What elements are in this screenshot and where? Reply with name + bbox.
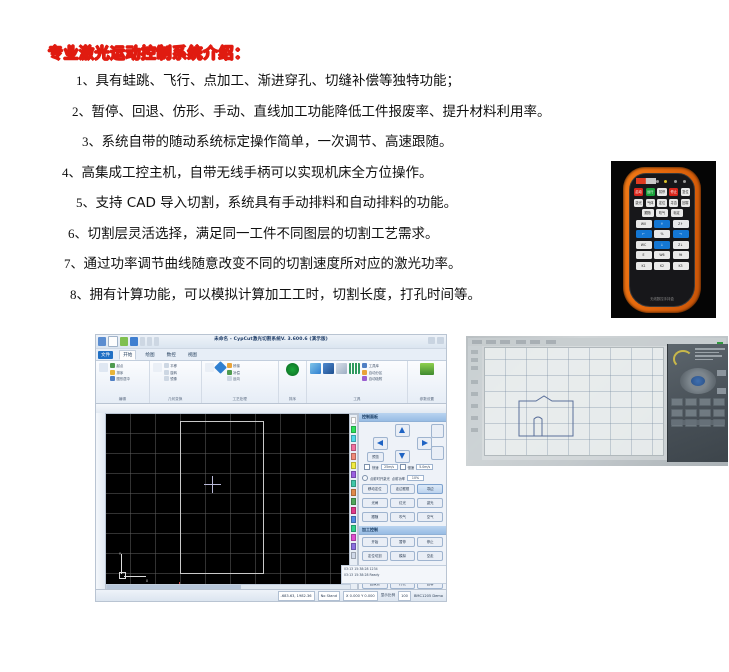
pendant-brand-logo [636, 178, 656, 184]
panel-key[interactable] [685, 409, 697, 417]
pendant-key-laser[interactable]: 激光 [634, 199, 643, 207]
list-item-number: 7、 [64, 256, 84, 271]
list-item-text: 系统自带的随动系统标定操作简单，一次调节、高速跟随。 [102, 134, 453, 150]
pendant-key-e[interactable]: E [636, 251, 652, 259]
panel-key[interactable] [671, 409, 683, 417]
ribbon-group-title: 工具 [310, 397, 403, 403]
pendant-key-wc[interactable]: WC [636, 241, 652, 249]
ribbon-item-label: 自动吸附 [369, 376, 383, 381]
red-light-toggle[interactable]: 红光 [390, 498, 416, 508]
panel-key[interactable] [685, 398, 697, 406]
panel-key[interactable] [699, 409, 711, 417]
laser-toggle[interactable]: 激光 [417, 498, 443, 508]
dock-icon[interactable] [323, 363, 334, 374]
toggle-button-row: 跟随 吹气 空气 [359, 510, 446, 524]
list-item: 8、拥有计算功能，可以模拟计算加工工时，切割长度，打孔时间等。 [70, 280, 662, 311]
list-item: 3、系统自带的随动系统标定操作简单，一次调节、高速跟随。 [82, 127, 662, 158]
list-item-text: 支持 CAD 导入切割，系统具有手动排料和自动排料的功能。 [96, 195, 458, 211]
pendant-key-edge[interactable]: 寻边 [669, 199, 678, 207]
fixture-icon[interactable] [336, 363, 347, 374]
pendant-key-9t[interactable]: 9t [673, 251, 689, 259]
tab-view[interactable]: 视图 [185, 351, 200, 359]
z-down-button[interactable] [431, 446, 444, 460]
color-swatch[interactable] [351, 534, 356, 541]
process-pause-button[interactable]: 暂停 [390, 537, 416, 547]
handheld-pendant-photo: 启动 运行 暂停 停止 复位 激光 气体 定位 寻边 回零 跟随 吹气 标定 [611, 161, 716, 318]
slow-speed-checkbox[interactable] [400, 464, 406, 470]
list-item: 7、通过功率调节曲线随意改变不同的切割速度所对应的激光功率。 [64, 249, 662, 280]
list-item-text: 高集成工控主机，自带无线手柄可以实现机床全方位操作。 [82, 165, 433, 181]
edge-find-button[interactable]: 寻边 [417, 484, 443, 494]
color-swatch[interactable] [351, 489, 356, 496]
fast-speed-field[interactable]: 25m/s [381, 464, 398, 470]
pendant-keypad: 启动 运行 暂停 停止 复位 激光 气体 定位 寻边 回零 跟随 吹气 标定 [634, 188, 690, 272]
panel-side-button[interactable] [717, 388, 726, 394]
axis-label-y: Y [119, 552, 121, 556]
color-swatch[interactable] [351, 516, 356, 523]
minimize-icon [428, 337, 435, 344]
color-swatch[interactable] [351, 444, 356, 451]
process-start-button[interactable]: 开始 [362, 537, 388, 547]
jog-control: 预览 快速 25m/s 慢速 5.0m/s [359, 422, 446, 474]
pendant-key-start[interactable]: 启动 [634, 188, 643, 196]
status-bar: -683.63, 1982.36 No Stand X 0.000 Y 0.00… [96, 589, 446, 601]
ribbon-group-sort: 排序 [279, 361, 308, 403]
layer-icon[interactable] [420, 363, 434, 375]
color-swatch[interactable] [351, 498, 356, 505]
part-profile-icon [518, 395, 591, 437]
jog-down-button[interactable] [395, 450, 410, 463]
point-laser-label: 点射时开激光 [370, 476, 390, 481]
process-stop-button[interactable]: 停止 [417, 537, 443, 547]
pendant-key-row: K1 K2 K3 [634, 262, 690, 270]
ribbon-item-label: 排序 [117, 370, 124, 375]
simulate-button[interactable]: 模拟 [390, 551, 416, 561]
ribbon-group-title: 几何变换 [153, 397, 198, 403]
ribbon-group-tools: 工具库 自动分区 自动吸附 工具 [307, 361, 407, 403]
air-select[interactable]: 空气 [417, 512, 443, 522]
workpiece-outline[interactable] [180, 421, 264, 574]
jog-up-button[interactable] [395, 424, 410, 437]
pendant-key-k3[interactable]: K3 [673, 262, 689, 270]
tab-cnc[interactable]: 数控 [164, 351, 179, 359]
shutter-toggle[interactable]: 光闸 [362, 498, 388, 508]
ribbon-item-label: 平移 [170, 363, 177, 368]
gauge-icon [673, 350, 693, 368]
axis-label-x: X [146, 579, 148, 583]
select-tool-icon[interactable] [99, 363, 108, 372]
pendant-key-row: 启动 运行 暂停 停止 复位 [634, 188, 690, 196]
jog-preview-button[interactable]: 预览 [367, 452, 384, 462]
ribbon-group-title: 工艺处理 [205, 397, 275, 403]
list-item: 1、具有蛙跳、飞行、点加工、渐进穿孔、切缝补偿等独特功能； [76, 66, 662, 97]
pendant-key-w0[interactable]: W0 [636, 220, 652, 228]
control-panel-title: 控制面板 [359, 413, 446, 422]
cypcut-software-screenshot: 未命名 - CypCut激光切割系统V. 3.600.6 (演示版) 文件 开始… [95, 334, 447, 602]
ribbon-group-process: 桥接 补偿 反向 工艺处理 [202, 361, 279, 403]
ribbon-item-label: 桥接 [233, 363, 240, 368]
ribbon-tab-bar: 文件 开始 绘图 数控 视图 [96, 349, 446, 361]
fast-speed-checkbox[interactable] [364, 464, 370, 470]
slow-speed-field[interactable]: 5.0m/s [416, 464, 433, 470]
point-power-label: 点射功率 [392, 476, 405, 481]
list-item-number: 6、 [68, 226, 88, 241]
app-window-caption: 未命名 - CypCut激光切割系统V. 3.600.6 (演示版) [96, 336, 446, 342]
pendant-key-down[interactable]: ↓ [654, 241, 670, 249]
status-state: No Stand [318, 591, 340, 601]
color-swatch[interactable] [351, 507, 356, 514]
pendant-key-row: WC ↓ Z↓ [634, 241, 690, 249]
machine-control-panel [667, 344, 728, 462]
process-button-row: 定位切割 模拟 空走 [359, 549, 446, 563]
machine-console-photo [466, 336, 728, 466]
dry-run-button[interactable]: 空走 [417, 551, 443, 561]
single-layer-zero-label: 单层停止自动回零 [370, 602, 396, 603]
status-device: BMC1205 Demo [414, 594, 443, 598]
list-item-number: 4、 [62, 165, 82, 180]
action-button-row: 移动定位 走边框框 寻边 [359, 482, 446, 496]
ribbon-group-title: 排序 [282, 397, 304, 403]
point-laser-radio[interactable] [362, 475, 368, 481]
color-swatch[interactable] [351, 525, 356, 532]
pendant-key-row: 激光 气体 定位 寻边 回零 [634, 199, 690, 207]
blow-toggle[interactable]: 吹气 [390, 512, 416, 522]
monitor-drawing-area [484, 347, 664, 456]
pendant-key-follow[interactable]: 跟随 [642, 209, 654, 217]
ribbon-group-params: 参数设置 [408, 361, 446, 403]
list-item-number: 1、 [76, 73, 96, 88]
pendant-key-w6[interactable]: W6 [654, 251, 670, 259]
pendant-key-row: ← % → [634, 230, 690, 238]
list-item-text: 切割层灵活选择，满足同一工件不同图层的切割工艺需求。 [88, 226, 439, 242]
pendant-status-leds [654, 177, 690, 185]
locate-cut-button[interactable]: 定位切割 [362, 551, 388, 561]
status-scale-value[interactable]: 100 [398, 591, 411, 601]
process-control-title: 加工控制 [359, 526, 446, 535]
window-controls[interactable] [428, 337, 444, 344]
pendant-key-blow[interactable]: 吹气 [656, 209, 668, 217]
log-line: 03:13 15:38:28 Ready [344, 573, 447, 579]
pendant-key-up[interactable]: ↑ [654, 220, 670, 228]
pendant-key-stop[interactable]: 停止 [669, 188, 678, 196]
color-swatch[interactable] [351, 417, 356, 424]
status-coordinates: -683.63, 1982.36 [278, 591, 315, 601]
z-up-button[interactable] [431, 424, 444, 438]
color-swatch[interactable] [351, 462, 356, 469]
pendant-key-home[interactable]: 回零 [681, 199, 690, 207]
size-tool-icon[interactable] [153, 363, 162, 372]
crosshair-cursor-icon [204, 476, 221, 493]
ribbon-item-label: 起点 [117, 363, 124, 368]
ribbon-group-title: 参数设置 [411, 397, 443, 403]
color-swatch[interactable] [351, 543, 356, 550]
ribbon-item-label: 镜像 [170, 376, 177, 381]
pendant-key-run[interactable]: 运行 [646, 188, 655, 196]
list-item: 5、支持 CAD 导入切割，系统具有手动排料和自动排料的功能。 [76, 188, 662, 219]
color-swatch[interactable] [351, 480, 356, 487]
list-item: 2、暂停、回退、仿形、手动、直线加工功能降低工件报废率、提升材料利用率。 [72, 97, 662, 128]
pendant-key-percent[interactable]: % [654, 230, 670, 238]
feature-list: 1、具有蛙跳、飞行、点加工、渐进穿孔、切缝补偿等独特功能； 2、暂停、回退、仿形… [62, 66, 662, 310]
page-title: 专业激光运动控制系统介绍： [48, 42, 250, 63]
vertical-ruler [96, 413, 106, 602]
sort-icon[interactable] [286, 363, 299, 376]
ribbon-item-label: 自动分区 [369, 370, 383, 375]
panel-key[interactable] [699, 398, 711, 406]
pendant-key-z-down[interactable]: Z↓ [673, 241, 689, 249]
pendant-key-left[interactable]: ← [636, 230, 652, 238]
list-item-number: 3、 [82, 134, 102, 149]
pendant-key-pause[interactable]: 暂停 [657, 188, 666, 196]
color-swatch[interactable] [351, 426, 356, 433]
follow-toggle[interactable]: 跟随 [362, 512, 388, 522]
tab-draw[interactable]: 绘图 [142, 351, 157, 359]
pendant-key-row: 跟随 吹气 标定 [634, 209, 690, 217]
single-layer-zero-checkbox[interactable] [362, 601, 368, 602]
fast-speed-label: 快速 [372, 465, 379, 470]
process-button-row: 开始 暂停 停止 [359, 535, 446, 549]
pendant-key-gas[interactable]: 气体 [646, 199, 655, 207]
panel-divider [671, 420, 725, 425]
pendant-key-right[interactable]: → [673, 230, 689, 238]
pendant-key-k2[interactable]: K2 [654, 262, 670, 270]
ribbon-toolbar: 起点 排序 图形居中 编辑 平移 旋转 镜像 几何变换 [96, 361, 446, 404]
pendant-key-z-up[interactable]: Z↑ [673, 220, 689, 228]
laser-point-row: 点射时开激光 点射功率 10% [359, 474, 446, 482]
ribbon-item-label: 工具库 [369, 363, 379, 368]
pendant-key-locate[interactable]: 定位 [657, 199, 666, 207]
frame-trace-button[interactable]: 走边框框 [390, 484, 416, 494]
preview-icon[interactable] [310, 363, 321, 374]
axis-indicator: Y X [119, 553, 147, 579]
ribbon-item-label: 反向 [233, 376, 240, 381]
dpad-center-button[interactable] [691, 376, 705, 386]
pendant-key-row: E W6 9t [634, 251, 690, 259]
micro-joint-icon[interactable] [214, 361, 227, 374]
list-item-number: 2、 [72, 104, 92, 119]
list-item: 4、高集成工控主机，自带无线手柄可以实现机床全方位操作。 [62, 158, 662, 189]
list-item-text: 暂停、回退、仿形、手动、直线加工功能降低工件报废率、提升材料利用率。 [92, 104, 551, 120]
ribbon-item-label: 旋转 [170, 370, 177, 375]
panel-key[interactable] [713, 398, 725, 406]
pendant-face: 启动 运行 暂停 停止 复位 激光 气体 定位 寻边 回零 跟随 吹气 标定 [629, 173, 695, 307]
log-output: 03:13 15:38:28 1234 03:13 15:38:28 Ready [341, 565, 447, 584]
status-offset[interactable]: X 0.000 Y 0.000 [343, 591, 378, 601]
drawing-canvas[interactable]: Y X [106, 414, 351, 593]
color-swatch[interactable] [351, 471, 356, 478]
panel-key[interactable] [671, 398, 683, 406]
list-item-text: 拥有计算功能，可以模拟计算加工工时，切割长度，打孔时间等。 [90, 287, 482, 303]
lead-in-icon[interactable] [205, 363, 214, 372]
tab-file[interactable]: 文件 [98, 351, 113, 359]
panel-key[interactable] [713, 409, 725, 417]
pendant-key-calib[interactable]: 标定 [671, 209, 683, 217]
color-swatch[interactable] [351, 552, 356, 559]
maximize-icon [437, 337, 444, 344]
jog-right-button[interactable] [417, 437, 432, 450]
slow-speed-label: 慢速 [408, 465, 415, 470]
pendant-body: 启动 运行 暂停 停止 复位 激光 气体 定位 寻边 回零 跟随 吹气 标定 [623, 167, 701, 313]
panel-side-button[interactable] [717, 370, 726, 376]
app-title-bar: 未命名 - CypCut激光切割系统V. 3.600.6 (演示版) [96, 335, 446, 349]
monitor-side-toolbar [468, 346, 482, 460]
list-item-number: 8、 [70, 287, 90, 302]
move-locate-button[interactable]: 移动定位 [362, 484, 388, 494]
list-item-number: 5、 [76, 195, 96, 210]
panel-readout [695, 348, 725, 362]
monitor-part-outline [518, 395, 591, 437]
pendant-key-k1[interactable]: K1 [636, 262, 652, 270]
ribbon-group-edit: 起点 排序 图形居中 编辑 [96, 361, 150, 403]
ribbon-item-label: 图形居中 [117, 376, 131, 381]
pendant-footer-label: 无线数控手持盒 [630, 296, 694, 301]
ribbon-item-label: 补偿 [233, 370, 240, 375]
color-swatch[interactable] [351, 453, 356, 460]
jog-left-button[interactable] [373, 437, 388, 450]
point-power-field[interactable]: 10% [407, 475, 424, 481]
toggle-button-row: 光闸 红光 激光 [359, 496, 446, 510]
list-item-text: 通过功率调节曲线随意改变不同的切割速度所对应的激光功率。 [84, 256, 462, 272]
pendant-key-reset[interactable]: 复位 [681, 188, 690, 196]
list-item-text: 具有蛙跳、飞行、点加工、渐进穿孔、切缝补偿等独特功能； [96, 73, 461, 89]
tab-start[interactable]: 开始 [119, 350, 136, 360]
list-item: 6、切割层灵活选择，满足同一工件不同图层的切割工艺需求。 [68, 219, 662, 250]
pendant-key-row: W0 ↑ Z↑ [634, 220, 690, 228]
ribbon-group-transform: 平移 旋转 镜像 几何变换 [150, 361, 202, 403]
dpad-control[interactable] [680, 368, 716, 394]
status-scale-label: 显示比例 [381, 593, 395, 598]
array-icon[interactable] [349, 363, 360, 374]
color-swatch[interactable] [351, 435, 356, 442]
ribbon-group-title: 编辑 [99, 397, 146, 403]
